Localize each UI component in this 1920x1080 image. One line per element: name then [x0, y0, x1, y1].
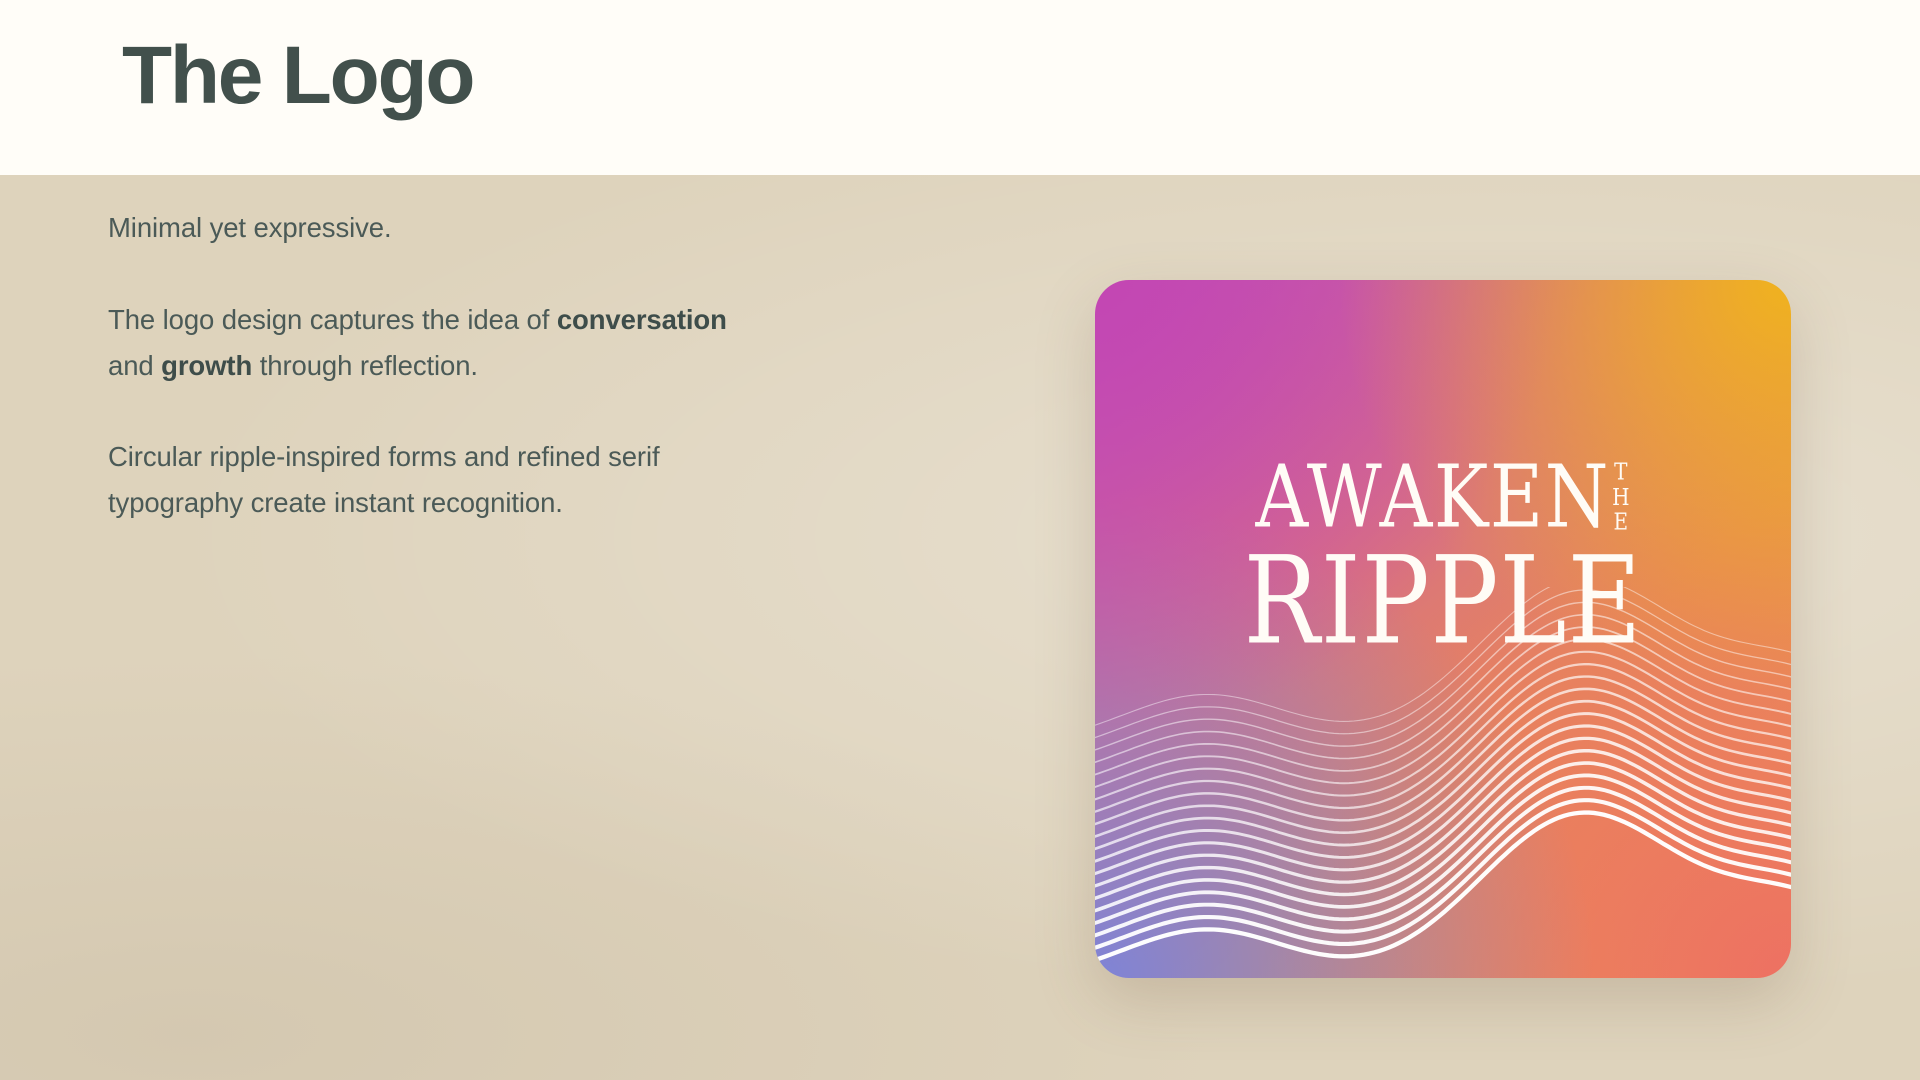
- concept-text-part3: through reflection.: [252, 350, 478, 381]
- concept-paragraph: The logo design captures the idea of con…: [108, 297, 748, 389]
- lead-paragraph: Minimal yet expressive.: [108, 205, 748, 251]
- form-paragraph: Circular ripple-inspired forms and refin…: [108, 434, 748, 526]
- wordmark-the-letter-h: H: [1612, 485, 1630, 510]
- logo-card-container: AWAKEN T H E RIPPLE: [1095, 280, 1791, 978]
- concept-bold-conversation: conversation: [557, 304, 727, 335]
- wordmark-the-letter-t: T: [1614, 460, 1628, 485]
- logo-card: AWAKEN T H E RIPPLE: [1095, 280, 1791, 978]
- page-header: The Logo: [0, 0, 1920, 175]
- concept-text-part1: The logo design captures the idea of: [108, 304, 557, 335]
- concept-bold-growth: growth: [161, 350, 252, 381]
- wordmark-top-row: AWAKEN T H E: [1255, 458, 1630, 527]
- wordmark-awaken: AWAKEN: [1255, 458, 1610, 539]
- wordmark-ripple: RIPPLE: [1244, 543, 1643, 659]
- description-column: Minimal yet expressive. The logo design …: [108, 205, 748, 526]
- logo-wordmark: AWAKEN T H E RIPPLE: [1095, 458, 1791, 640]
- wordmark-the-stack: T H E: [1612, 460, 1630, 535]
- content-stage: Minimal yet expressive. The logo design …: [0, 175, 1920, 1080]
- page-title: The Logo: [122, 27, 473, 125]
- concept-text-part2: and: [108, 350, 161, 381]
